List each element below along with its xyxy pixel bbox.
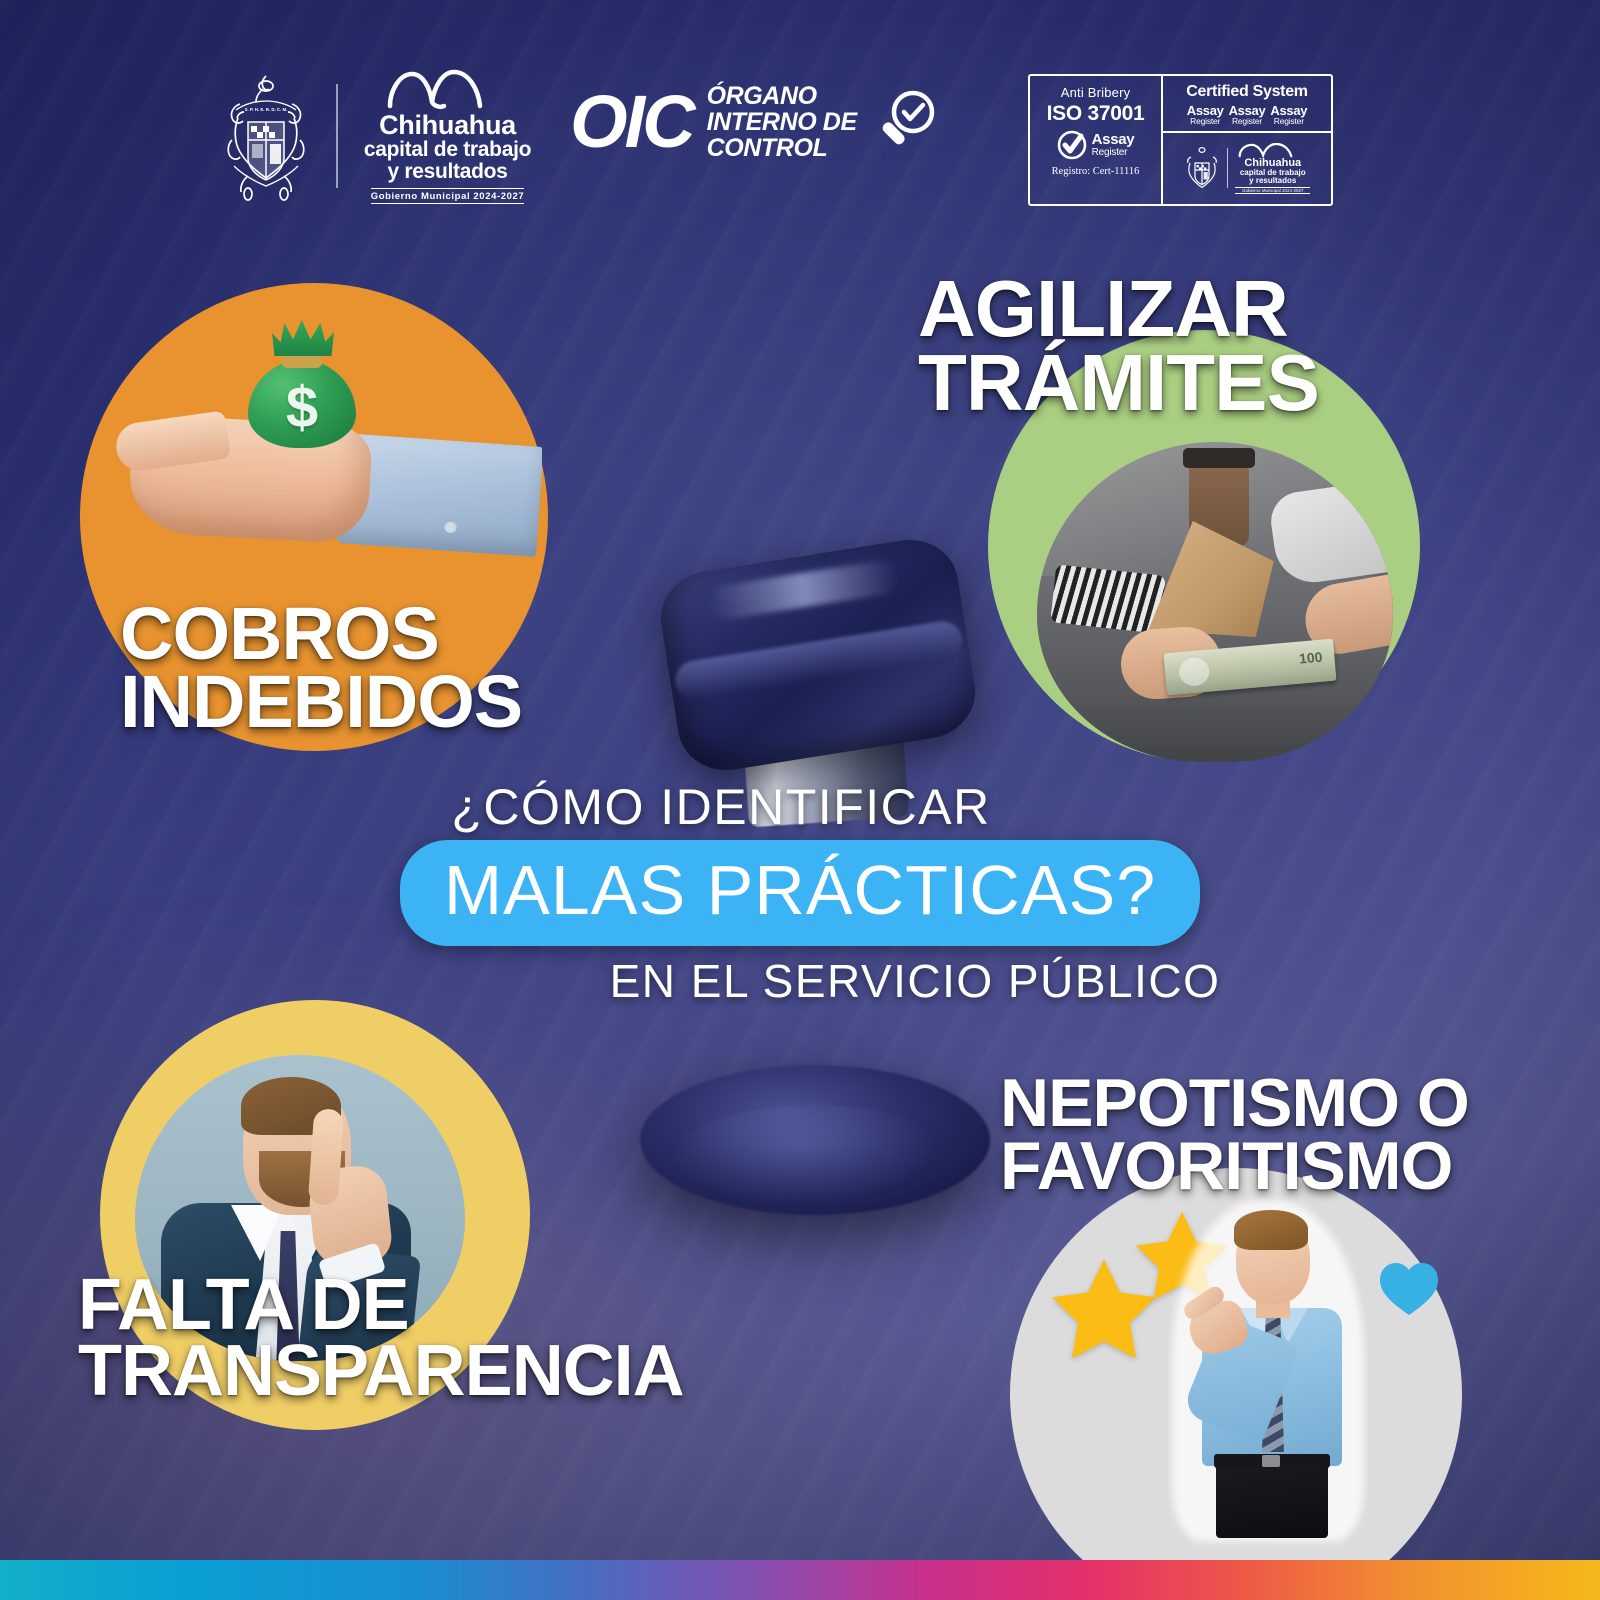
assay-marks-row: Assay Register Assay Register Assay Regi… <box>1167 104 1327 126</box>
striped-sleeve <box>1050 564 1165 633</box>
title-highlight-wrapper: MALAS PRÁCTICAS? <box>0 840 1600 946</box>
brand-line-3: y resultados <box>360 161 535 183</box>
oic-fullname: ÓRGANO INTERNO DE CONTROL <box>707 84 857 161</box>
magnifier-check-icon <box>875 88 937 158</box>
oic-word-2: INTERNO DE <box>707 110 857 136</box>
oic-word-1: ÓRGANO <box>707 84 857 110</box>
assay-sub: Register <box>1092 148 1135 158</box>
chihuahua-wordmark: Chihuahua capital de trabajo y resultado… <box>360 68 535 204</box>
cert-brand-block: Chihuahua capital de trabajo y resultado… <box>1163 133 1331 204</box>
cert-right-panel: Certified System Assay Register Assay Re… <box>1163 76 1331 204</box>
man-hair <box>1234 1210 1308 1250</box>
label-line-1: FALTA DE <box>78 1272 684 1338</box>
assay-mark: Assay Register <box>1187 104 1224 126</box>
heart-icon <box>1378 1260 1440 1318</box>
banknote-denomination: 100 <box>1298 649 1323 667</box>
man-pointing-image <box>1178 1208 1358 1538</box>
dollar-sign: $ <box>242 374 362 441</box>
label-line-2: TRÁMITES <box>918 346 1319 420</box>
label-line-1: NEPOTISMO O <box>1000 1072 1469 1135</box>
cert-certified-system-label: Certified System <box>1167 83 1327 101</box>
footer-gradient-strip <box>0 1560 1600 1600</box>
cuff-button <box>444 520 457 533</box>
coat-of-arms-icon: S. P. H. E. R. D. C. M. <box>218 70 314 202</box>
assay-mark-sub: Register <box>1187 117 1224 126</box>
bribe-handoff-image: 100 <box>1037 442 1393 762</box>
cert-brand-line-4: Gobierno Municipal 2024-2027 <box>1235 187 1310 194</box>
cert-brand-line-3: y resultados <box>1235 177 1310 185</box>
cert-registry-number: Registro: Cert-11116 <box>1034 166 1157 177</box>
label-line-1: COBROS <box>120 600 522 668</box>
money-bag-icon: $ <box>242 320 362 448</box>
cert-brand-divider <box>1227 148 1229 188</box>
assay-register-text: Assay Register <box>1092 132 1135 157</box>
assay-name: Assay <box>1092 132 1135 147</box>
label-falta-de-transparencia: FALTA DE TRANSPARENCIA <box>78 1272 684 1404</box>
title-bottom-line: EN EL SERVICIO PÚBLICO <box>230 954 1600 1008</box>
brand-divider <box>336 84 338 188</box>
assay-mark-sub: Register <box>1229 117 1266 126</box>
government-brand-lockup: S. P. H. E. R. D. C. M. Chihuahua capita… <box>218 68 535 204</box>
brand-line-1: Chihuahua <box>360 112 535 139</box>
iso-certification-badge: Anti Bribery ISO 37001 Assay Register Re… <box>1028 74 1333 206</box>
label-agilizar-tramites: AGILIZAR TRÁMITES <box>918 272 1319 419</box>
trousers <box>1216 1460 1328 1538</box>
brand-line-2: capital de trabajo <box>360 139 535 161</box>
oic-word-3: CONTROL <box>707 136 857 162</box>
cert-certified-system-block: Certified System Assay Register Assay Re… <box>1163 76 1331 133</box>
cert-iso-number: ISO 37001 <box>1034 102 1157 126</box>
money-bag-top <box>272 320 334 356</box>
cert-coat-of-arms-icon <box>1184 144 1220 192</box>
banknote-portrait <box>1178 657 1210 688</box>
assay-mark: Assay Register <box>1229 104 1266 126</box>
right-person-arm <box>1267 477 1393 588</box>
label-nepotismo-o-favoritismo: NEPOTISMO O FAVORITISMO <box>1000 1072 1469 1197</box>
header-bar: S. P. H. E. R. D. C. M. Chihuahua capita… <box>0 62 1600 212</box>
main-title: ¿CÓMO IDENTIFICAR MALAS PRÁCTICAS? EN EL… <box>0 778 1600 1008</box>
title-top-line: ¿CÓMO IDENTIFICAR <box>0 778 1600 836</box>
label-line-2: FAVORITISMO <box>1000 1135 1469 1198</box>
assay-check-icon <box>1057 130 1087 160</box>
label-line-1: AGILIZAR <box>918 272 1319 346</box>
hand-holding-money-bag-image: $ <box>92 292 542 592</box>
label-line-2: INDEBIDOS <box>120 668 522 736</box>
cert-anti-bribery-label: Anti Bribery <box>1034 85 1157 100</box>
cert-mountain-icon <box>1235 143 1310 158</box>
label-line-2: TRANSPARENCIA <box>78 1338 684 1404</box>
title-highlight-pill: MALAS PRÁCTICAS? <box>400 840 1200 946</box>
label-cobros-indebidos: COBROS INDEBIDOS <box>120 600 522 736</box>
mountain-logo-icon <box>360 68 535 110</box>
brand-government-period: Gobierno Municipal 2024-2027 <box>371 188 525 204</box>
coffee-cup-lid <box>1183 448 1255 468</box>
cert-left-panel: Anti Bribery ISO 37001 Assay Register Re… <box>1030 76 1163 204</box>
svg-text:S. P. H. E. R. D. C. M.: S. P. H. E. R. D. C. M. <box>245 107 288 112</box>
belt-buckle <box>1262 1455 1280 1467</box>
assay-register-mark: Assay Register <box>1034 130 1157 160</box>
assay-mark: Assay Register <box>1270 104 1307 126</box>
oic-logo: OIC ÓRGANO INTERNO DE CONTROL <box>570 84 937 161</box>
assay-mark-sub: Register <box>1270 117 1307 126</box>
oic-abbreviation: OIC <box>570 87 693 157</box>
cert-chihuahua-wordmark: Chihuahua capital de trabajo y resultado… <box>1235 143 1310 194</box>
